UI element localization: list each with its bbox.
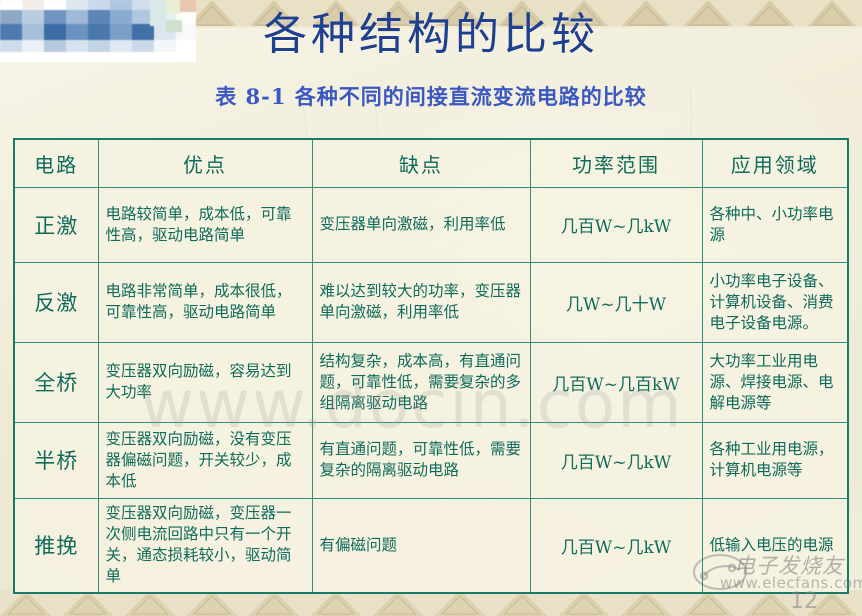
cell-cons: 难以达到较大的功率，变压器单向激磁，利用率低 xyxy=(312,262,530,342)
table-row: 全桥 变压器双向励磁，容易达到大功率 结构复杂，成本高，有直通问题，可靠性低，需… xyxy=(14,342,848,422)
column-header-circuit: 电路 xyxy=(14,139,98,187)
table-header: 电路 优点 缺点 功率范围 应用领域 xyxy=(14,139,848,187)
cell-circuit: 全桥 xyxy=(14,342,98,422)
table-row: 半桥 变压器双向励磁，没有变压器偏磁问题，开关较少，成本低 有直通问题，可靠性低… xyxy=(14,422,848,498)
cell-pros: 变压器双向励磁，容易达到大功率 xyxy=(98,342,312,422)
table-row: 反激 电路非常简单，成本很低，可靠性高，驱动电路简单 难以达到较大的功率，变压器… xyxy=(14,262,848,342)
cell-circuit: 反激 xyxy=(14,262,98,342)
cell-cons: 有偏磁问题 xyxy=(312,498,530,593)
cell-power: 几W~几十W xyxy=(530,262,702,342)
table-row: 推挽 变压器双向励磁，变压器一次侧电流回路中只有一个开关，通态损耗较小，驱动简单… xyxy=(14,498,848,593)
comparison-table: 电路 优点 缺点 功率范围 应用领域 正激 电路较简单，成本低，可靠性高，驱动电… xyxy=(13,138,849,594)
cell-pros: 电路非常简单，成本很低，可靠性高，驱动电路简单 xyxy=(98,262,312,342)
cell-power: 几百W~几kW xyxy=(530,498,702,593)
cell-cons: 结构复杂，成本高，有直通问题，可靠性低，需要复杂的多组隔离驱动电路 xyxy=(312,342,530,422)
page-number: 12 xyxy=(790,589,818,614)
cell-cons: 有直通问题，可靠性低，需要复杂的隔离驱动电路 xyxy=(312,422,530,498)
cell-cons: 变压器单向激磁，利用率低 xyxy=(312,187,530,262)
cell-apps: 各种工业用电源，计算机电源等 xyxy=(702,422,848,498)
cell-power: 几百W~几kW xyxy=(530,422,702,498)
cell-apps: 低输入电压的电源 xyxy=(702,498,848,593)
column-header-apps: 应用领域 xyxy=(702,139,848,187)
comparison-table-container: 电路 优点 缺点 功率范围 应用领域 正激 电路较简单，成本低，可靠性高，驱动电… xyxy=(13,138,849,592)
cell-pros: 电路较简单，成本低，可靠性高，驱动电路简单 xyxy=(98,187,312,262)
table-caption: 表 8-1 各种不同的间接直流变流电路的比较 xyxy=(0,82,862,112)
table-header-row: 电路 优点 缺点 功率范围 应用领域 xyxy=(14,139,848,187)
cell-pros: 变压器双向励磁，变压器一次侧电流回路中只有一个开关，通态损耗较小，驱动简单 xyxy=(98,498,312,593)
table-row: 正激 电路较简单，成本低，可靠性高，驱动电路简单 变压器单向激磁，利用率低 几百… xyxy=(14,187,848,262)
cell-pros: 变压器双向励磁，没有变压器偏磁问题，开关较少，成本低 xyxy=(98,422,312,498)
cell-circuit: 正激 xyxy=(14,187,98,262)
cell-apps: 小功率电子设备、计算机设备、消费电子设备电源。 xyxy=(702,262,848,342)
cell-apps: 各种中、小功率电源 xyxy=(702,187,848,262)
cell-circuit: 推挽 xyxy=(14,498,98,593)
cell-circuit: 半桥 xyxy=(14,422,98,498)
slide-canvas: 各种结构的比较 表 8-1 各种不同的间接直流变流电路的比较 www.docin… xyxy=(0,0,862,616)
column-header-pros: 优点 xyxy=(98,139,312,187)
column-header-cons: 缺点 xyxy=(312,139,530,187)
page-title: 各种结构的比较 xyxy=(0,4,862,66)
cell-power: 几百W~几百kW xyxy=(530,342,702,422)
table-body: 正激 电路较简单，成本低，可靠性高，驱动电路简单 变压器单向激磁，利用率低 几百… xyxy=(14,187,848,593)
column-header-power: 功率范围 xyxy=(530,139,702,187)
cell-power: 几百W~几kW xyxy=(530,187,702,262)
cell-apps: 大功率工业用电源、焊接电源、电解电源等 xyxy=(702,342,848,422)
